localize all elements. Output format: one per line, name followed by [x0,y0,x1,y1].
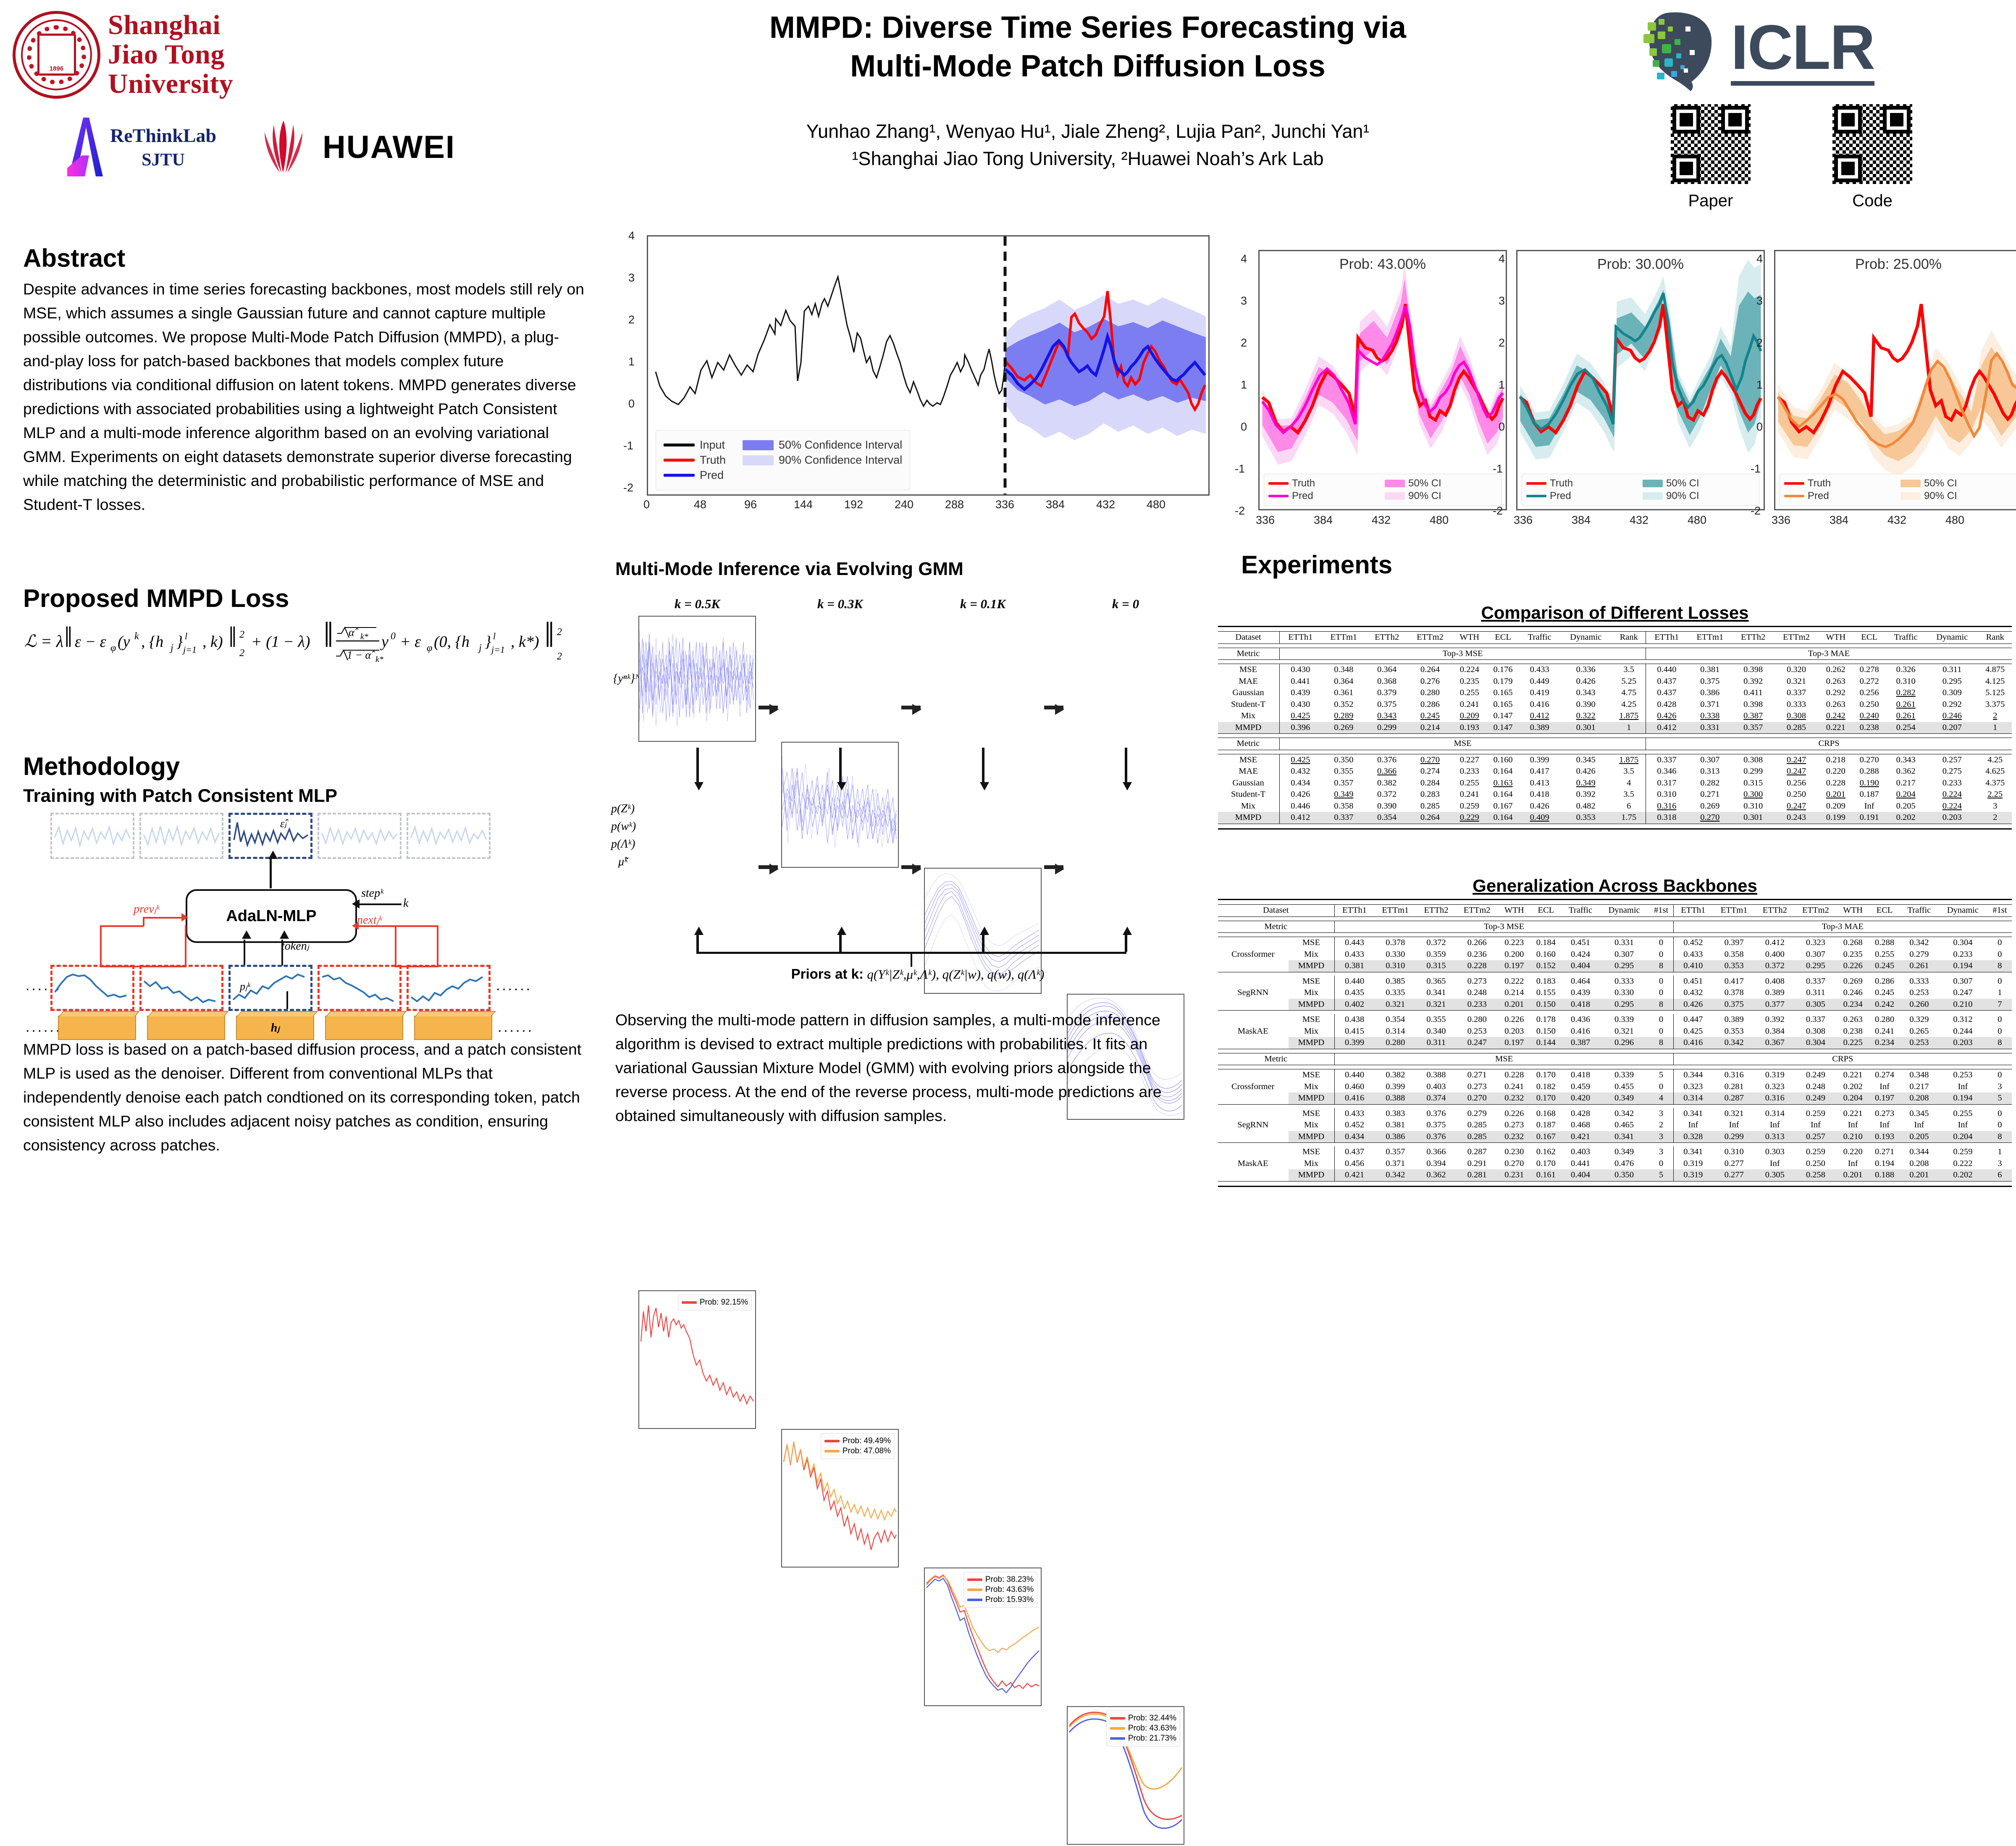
table-row: MMPD 0.4340.3860.3760.2850.2320.1670.421… [1218,1131,2012,1143]
qr-code-label: Code [1852,192,1893,210]
c: 0.390 [1559,699,1612,711]
gmm-prior-label-mu: μ̃ᵏ [618,855,627,869]
svg-text:k*: k* [360,632,368,641]
c: 1 [1978,722,2012,734]
priors-caption-math: q(Yᵏ|Zᵏ,μᵏ,Λᵏ), q(Zᵏ|w), q(w), q(Λᵏ) [867,967,1044,982]
c: 0.482 [1559,801,1612,812]
c: 0.203 [1926,812,1978,824]
c: 0.311 [1794,987,1837,999]
c: 0.170 [1530,1158,1562,1170]
c: 0.361 [1321,687,1366,699]
c: 0.208 [1900,1092,1938,1104]
c: 0 [1988,976,2012,987]
c: 0.232 [1498,1092,1530,1104]
c: 0.403 [1562,1146,1599,1158]
table-row: SegRNN MSE 0.4400.3850.3650.2730.2220.18… [1218,976,2012,987]
gmm-prob-row-4-3: Prob: 21.73% [1110,1734,1176,1743]
c: 0.381 [1688,664,1732,676]
gmm-prob-label-4-2: Prob: 43.63% [1128,1724,1176,1733]
legend-item-ci90: 90% Confidence Interval [743,454,902,467]
c: 0.375 [1713,999,1755,1011]
c: 0 [1649,949,1673,961]
t1-h-r1: ETTm1 [1688,632,1732,644]
mode2-title: Prob: 30.00% [1517,256,1764,273]
t2-h-r4: WTH [1837,905,1869,917]
c: 0.339 [1599,1014,1649,1026]
legend-swatch-input [664,444,695,446]
c: 0.273 [1869,1108,1900,1120]
gmm-prior-label-z: p(Zᵏ) [611,802,635,816]
c: 0.396 [1280,722,1321,734]
table-row: Mix 0.4330.3300.3590.2360.2000.1600.4240… [1218,949,2012,961]
t2b1g1r1-label: Mix [1289,987,1335,999]
t2b2g0r2-label: MMPD [1289,1092,1335,1104]
legend-item-truth: Truth [664,454,726,467]
table-row: MMPD 0.4120.3370.3540.2640.2290.1640.409… [1218,812,2012,824]
c: 0.280 [1869,1014,1900,1026]
c: 0.246 [1926,710,1978,722]
c: 0.390 [1366,801,1407,812]
t2-h-r5: ECL [1869,905,1900,917]
c: 0.299 [1713,1131,1755,1143]
c: 0.224 [1453,664,1486,676]
c: 0.366 [1417,1146,1456,1158]
gmm-evolution-figure: k = 0.5K k = 0.3K k = 0.1K k = 0 {yⁿᵏ}ᴺ [613,596,1214,970]
c: 0.349 [1599,1146,1649,1158]
svg-text:φ: φ [427,643,432,654]
ytick-m2: -2 [623,481,633,494]
c: 0.164 [1486,789,1520,801]
c: 8 [1649,1037,1673,1049]
c: 0.426 [1280,789,1321,801]
svg-text:1 − α̂: 1 − α̂ [347,649,375,661]
c: Inf [1837,1158,1869,1170]
table-row: SegRNN MSE 0.4330.3830.3760.2790.2260.16… [1218,1108,2012,1120]
t2b1g0-backbone: Crossformer [1218,937,1289,972]
c: 0.323 [1794,937,1837,949]
gmm-prob-label-3-2: Prob: 43.63% [985,1585,1034,1594]
c: 0.437 [1646,687,1688,699]
mode3-ytick-2: 2 [1756,336,1763,349]
t1-metric-right-2: CRPS [1646,738,2012,750]
t2b1g0r1-label: Mix [1289,949,1335,961]
main-forecast-chart: Input Truth Pred 50% Confidence Interval… [622,235,1210,521]
c: 0.389 [1755,987,1794,999]
c: 0.240 [1853,710,1886,722]
c: 0.314 [1673,1092,1713,1104]
sjtu-line1: Shanghai Jiao Tong [108,11,233,69]
gmm-step-label-4: k = 0 [1067,596,1184,612]
rethinklab-mark-icon [63,116,105,179]
c: 0.426 [1646,710,1688,722]
c: 0.222 [1938,1158,1988,1170]
c: 0.346 [1646,766,1688,777]
c: 0.313 [1688,766,1732,777]
c: 0.263 [1819,699,1853,711]
c: 0.336 [1559,664,1612,676]
gmm-down-arrow-1 [696,748,699,782]
svg-text:2: 2 [557,627,562,638]
c: 0.163 [1486,777,1520,789]
c: 0.323 [1673,1081,1713,1093]
priors-up-2 [839,935,842,952]
c: 0.331 [1688,722,1732,734]
c: 0.188 [1869,1169,1900,1181]
c: 0.372 [1417,937,1456,949]
c: 4 [1612,777,1646,789]
c: 3 [1649,1146,1673,1158]
affiliations-list: ¹Shanghai Jiao Tong University, ²Huawei … [601,145,1575,172]
c: 0.322 [1559,710,1612,722]
c: 0.348 [1900,1069,1938,1081]
patch-current: pⱼᵏ [228,965,312,1011]
svg-text:(0, {h: (0, {h [434,633,470,651]
t2-h-r0: ETTh1 [1673,905,1713,917]
c: 0.277 [1713,1158,1755,1170]
table-row: MSE 0.4300.3480.3640.2640.2240.1760.4330… [1218,664,2012,676]
c: 0.421 [1562,1131,1599,1143]
c: 0.428 [1646,699,1688,711]
c: 0.364 [1366,664,1407,676]
svg-text:φ: φ [110,643,116,654]
c: 0.277 [1713,1169,1755,1181]
mode3-ytick-1: 1 [1756,378,1763,391]
iclr-brain-icon [1640,10,1720,92]
c: 0.242 [1819,710,1853,722]
qr-code[interactable]: Code [1829,101,1916,210]
c: 0 [1649,987,1673,999]
table1-grid: Dataset ETTh1 ETTm1 ETTh2 ETTm2 WTH ECL … [1218,626,2012,830]
mode1-legend-ci90: 90% CI [1385,490,1497,502]
c: 0.244 [1938,1026,1988,1037]
c: 0.367 [1755,1037,1794,1049]
c: 0.383 [1374,1108,1417,1120]
c: 0.247 [1774,754,1819,766]
c: 4.375 [1978,777,2012,789]
c: 0.299 [1732,766,1774,777]
table-row: Mix 0.4350.3350.3410.2480.2140.1550.4390… [1218,987,2012,999]
prev-line-h1 [100,925,144,927]
c: 4.875 [1978,664,2012,676]
mode3-legend-truth: Truth [1784,478,1896,489]
gmm-prior-label-w: p(wᵏ) [611,820,636,833]
c: 0.376 [1417,1131,1456,1143]
c: 0.256 [1853,687,1886,699]
c: 0.428 [1562,1108,1599,1120]
left-paragraph: MMPD loss is based on a patch-based diff… [23,1037,590,1157]
iclr-logo: ICLR [1640,6,1951,95]
mode3-xtick-480: 480 [1945,514,1964,527]
c: 0.168 [1530,1108,1562,1120]
c: 0.202 [1837,1081,1869,1093]
c: 0.382 [1374,1069,1417,1081]
table1-heading: Comparison of Different Losses [1218,603,2012,623]
c: 0 [1649,1014,1673,1026]
c: 0.343 [1559,687,1612,699]
c: 0.270 [1407,754,1452,766]
xtick-48: 48 [694,498,706,511]
c: 0.476 [1599,1158,1649,1170]
huawei-wordmark: HUAWEI [323,129,455,165]
table2-metric-row-2: Metric MSE CRPS [1218,1053,2012,1065]
c: 0.295 [1599,999,1649,1011]
c: 0.279 [1900,949,1938,961]
mode3-ytick-4: 4 [1756,252,1763,265]
mode3-legend-ci50: 50% CI [1900,478,2013,489]
c: 0.330 [1374,949,1417,961]
mode2-xtick-336: 336 [1514,514,1533,527]
c: 0.311 [1926,664,1978,676]
c: 0.314 [1755,1108,1794,1120]
t2b2g0r0-label: MSE [1289,1069,1335,1081]
patch-prev-2 [50,965,134,1011]
c: 0.231 [1498,1169,1530,1181]
c: 0.375 [1688,676,1732,688]
t2b2g1r2-label: MMPD [1289,1131,1335,1143]
c: 4.25 [1612,699,1646,711]
c: 3 [1988,1081,2012,1093]
c: 0.214 [1407,722,1452,734]
c: 0.282 [1688,777,1732,789]
c: 0.178 [1530,1014,1562,1026]
c: 0.144 [1530,1037,1562,1049]
c: 0.456 [1335,1158,1374,1170]
c: 0.388 [1417,1069,1456,1081]
t1-h-dataset: Dataset [1218,632,1280,644]
t2-h-l3: ETTm2 [1456,905,1498,917]
c: 0.418 [1562,999,1599,1011]
c: 0.221 [1837,1108,1869,1120]
c: 0.371 [1688,699,1732,711]
table-row: Student-T 0.4260.3490.3720.2830.2410.164… [1218,789,2012,801]
c: 0.468 [1562,1119,1599,1131]
mode3-legend: Truth 50% CI Pred 90% CI [1780,474,2016,506]
c: 0.364 [1321,676,1366,688]
c: 0.342 [1713,1037,1755,1049]
c: 0.344 [1900,1146,1938,1158]
c: 2 [1978,812,2012,824]
t2b1g1r0-label: MSE [1289,976,1335,987]
c: 0.253 [1900,1037,1938,1049]
qr-paper-icon[interactable] [1667,101,1754,187]
t1b2r0-label: MSE [1218,754,1280,766]
prev-line-h2 [143,917,185,919]
t1b1r1-label: MAE [1218,676,1280,688]
mode2-legend: Truth 50% CI Pred 90% CI [1522,474,1759,506]
c: 0.255 [1938,1108,1988,1120]
c: 0.425 [1280,754,1321,766]
c: 0.358 [1321,801,1366,812]
c: 0.263 [1819,676,1853,688]
c: 0.242 [1869,999,1900,1011]
c: 0.273 [1456,1081,1498,1093]
c: 0.353 [1559,812,1612,824]
c: 0.283 [1407,789,1452,801]
c: 0.362 [1417,1169,1456,1181]
c: 0.249 [1794,1069,1837,1081]
c: 0.217 [1900,1081,1938,1093]
svg-text:j=1: j=1 [490,644,505,655]
t2b2g1-backbone: SegRNN [1218,1108,1289,1143]
c: 0.358 [1713,949,1755,961]
c: 0 [1649,1158,1673,1170]
c: 0.266 [1456,937,1498,949]
c: 0.315 [1732,777,1774,789]
c: 0.384 [1755,1026,1794,1037]
gmm-prob-label-3-3: Prob: 15.93% [985,1595,1034,1604]
c: 5 [1649,1069,1673,1081]
c: 0.439 [1562,987,1599,999]
svg-text:l: l [493,631,496,641]
c: Inf [1938,1119,1988,1131]
c: 0.434 [1335,1131,1374,1143]
c: 1.875 [1612,754,1646,766]
c: 0.321 [1374,999,1417,1011]
t2b2g2r0-label: MSE [1289,1146,1335,1158]
t1b2r1-label: MAE [1218,766,1280,777]
mode1-ytick-0: 0 [1241,420,1247,433]
c: 4 [1649,1092,1673,1104]
c: 0.352 [1321,699,1366,711]
priors-up-3 [982,935,984,952]
t2b1g2r1-label: Mix [1289,1026,1335,1037]
qr-paper[interactable]: Paper [1667,101,1754,210]
c: 0.238 [1837,1026,1869,1037]
c: 0.235 [1453,676,1486,688]
c: 0.341 [1673,1146,1713,1158]
t2b1g2r2-label: MMPD [1289,1037,1335,1049]
c: 8 [1649,999,1673,1011]
c: 0.319 [1755,1069,1794,1081]
c: 0.400 [1755,949,1794,961]
t2-metric-label-1: Metric [1218,921,1335,933]
c: 0.257 [1794,1131,1837,1143]
c: 0.255 [1869,949,1900,961]
svg-text:, {h: , {h [141,633,163,651]
t2-h-r6: Traffic [1900,905,1938,917]
gmm-prob-label-2-2: Prob: 47.08% [843,1447,891,1456]
c: 0.425 [1280,710,1321,722]
c: 0.376 [1366,754,1407,766]
gmm-prob-row-1-1: Prob: 92.15% [682,1298,748,1307]
priors-up-1 [696,935,699,952]
svg-text:l: l [185,631,187,641]
table1-metric-row-2: Metric MSE CRPS [1218,738,2012,750]
c: 0.412 [1520,710,1559,722]
table-row: MMPD 0.4160.3880.3740.2700.2320.1700.420… [1218,1092,2012,1104]
c: 0.147 [1486,710,1520,722]
mode2-ytick-m1: -1 [1493,462,1503,475]
c: 0.269 [1688,801,1732,812]
c: Inf [1900,1119,1938,1131]
gmm-mode-legend-1: Prob: 92.15% [678,1295,752,1310]
svg-text:+ (1 − λ): + (1 − λ) [251,633,310,651]
mode1-legend-ci50-label: 50% CI [1408,478,1441,489]
c: 0.321 [1417,999,1456,1011]
c: 0.249 [1794,1092,1837,1104]
c: 0.221 [1819,722,1853,734]
svg-text:‖: ‖ [228,621,237,654]
c: 0.321 [1774,676,1819,688]
t2b2g0r1-label: Mix [1289,1081,1335,1093]
c: 0.247 [1774,801,1819,812]
c: Inf [1938,1081,1988,1093]
svg-text:2: 2 [557,651,562,662]
c: 0.308 [1732,754,1774,766]
mode-panel-3: 4 3 2 1 0 -1 -2 Prob: 25.00% Truth 50% C… [1759,233,2008,527]
mode3-xtick-336: 336 [1772,514,1790,527]
mode2-legend-truth: Truth [1526,478,1638,489]
c: 0.413 [1520,777,1559,789]
c: 0.259 [1794,1108,1837,1120]
c: 0.316 [1646,801,1688,812]
c: 0.398 [1732,664,1774,676]
c: 0.375 [1417,1119,1456,1131]
gmm-prob-label-2-1: Prob: 49.49% [843,1436,891,1446]
noisy-patch-1 [50,813,134,859]
c: 0.271 [1869,1146,1900,1158]
c: 0.271 [1456,1069,1498,1081]
middle-paragraph: Observing the multi-mode pattern in diff… [615,1008,1195,1128]
c: 5.125 [1978,687,2012,699]
c: 0.255 [1453,687,1486,699]
svg-text:‖: ‖ [64,621,73,654]
c: 0.280 [1374,1037,1417,1049]
t2b1g0r2-label: MMPD [1289,960,1335,972]
t1-h-l1: ETTm1 [1321,632,1366,644]
c: 0.201 [1819,789,1853,801]
c: Inf [1869,1081,1900,1093]
c: 0.381 [1374,1119,1417,1131]
c: 0.150 [1530,999,1562,1011]
c: 0.389 [1520,722,1559,734]
t2-h-r3: ETTm2 [1794,905,1837,917]
c: 0.233 [1926,777,1978,789]
t1-metric-left-1: Top-3 MSE [1280,648,1646,660]
t2-metric-left-1: Top-3 MSE [1335,921,1673,933]
table-row: Mix 0.4520.3810.3750.2850.2730.1870.4680… [1218,1119,2012,1131]
qr-code-icon[interactable] [1829,101,1916,187]
c: 0.305 [1755,1169,1794,1181]
c: 0.329 [1900,1014,1938,1026]
c: 0.387 [1562,1037,1599,1049]
gmm-prob-row-2-2: Prob: 47.08% [824,1447,891,1456]
c: 0.392 [1732,676,1774,688]
c: 0.165 [1486,699,1520,711]
legend-swatch-ci90 [743,455,774,465]
c: 0.288 [1869,937,1900,949]
c: 0.282 [1886,687,1926,699]
c: 0.460 [1335,1081,1374,1093]
epsilon-hat-label: ε̂ⱼ [280,817,286,830]
c: 0.247 [1774,766,1819,777]
c: 0.341 [1673,1108,1713,1120]
gmm-prob-row-3-1: Prob: 38.23% [967,1575,1034,1584]
c: 0.194 [1938,1092,1988,1104]
c: 0.464 [1562,976,1599,987]
c: 0.261 [1886,699,1926,711]
c: 0.238 [1853,722,1886,734]
xtick-480: 480 [1147,498,1165,511]
legend-item-pred: Pred [664,469,726,482]
c: 0.248 [1456,987,1498,999]
t2-h-l0: ETTh1 [1335,905,1374,917]
c: 0.261 [1900,960,1938,972]
c: 0.446 [1280,801,1321,812]
c: 5.25 [1612,676,1646,688]
mode1-ytick-3: 3 [1241,294,1247,307]
t2-metric-label-2: Metric [1218,1053,1335,1065]
